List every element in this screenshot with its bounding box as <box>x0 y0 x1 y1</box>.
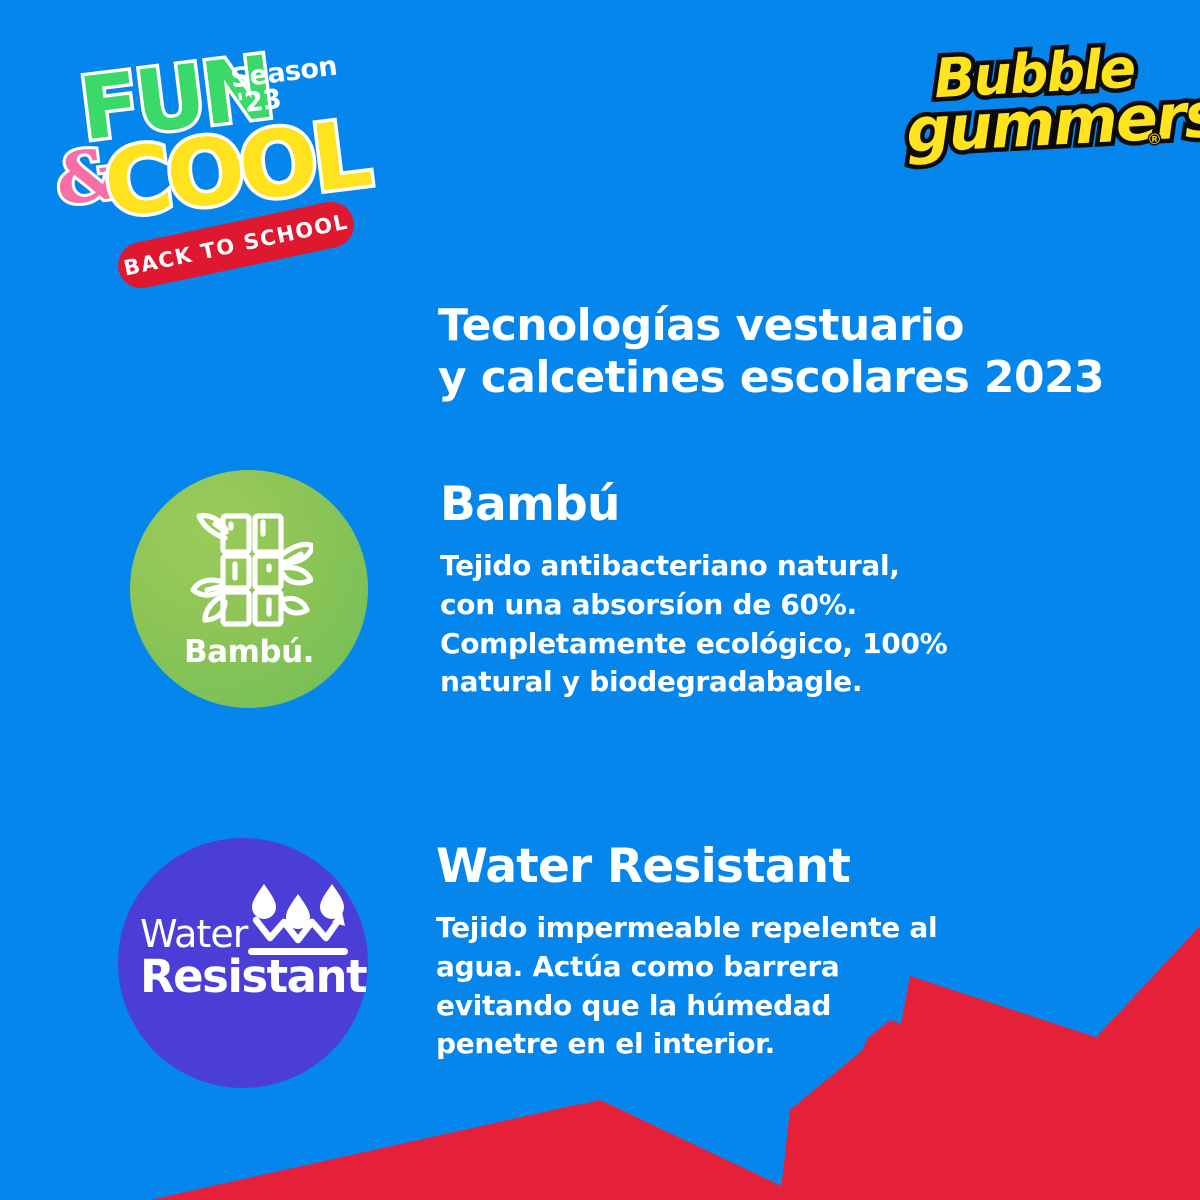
bambu-description-line2: con una absorsíon de 60%. <box>440 586 947 625</box>
water-description-line3: evitando que la húmedad <box>436 987 937 1026</box>
page-title-line1: Tecnologías vestuario <box>438 300 964 351</box>
feature-row-water-resistant: Water Resistant <box>118 838 937 1088</box>
bambu-description: Tejido antibacteriano natural, con una a… <box>440 547 947 702</box>
bambu-badge-caption: Bambú. <box>184 634 314 670</box>
registered-trademark-icon: ® <box>1149 131 1160 148</box>
bambu-description-line4: natural y biodegradabagle. <box>440 663 947 702</box>
water-resistant-title: Water Resistant <box>436 842 937 891</box>
page-title-line2: y calcetines escolares 2023 <box>438 352 1138 404</box>
bambu-description-line3: Completamente ecológico, 100% <box>440 625 947 664</box>
page-title: Tecnologías vestuario y calcetines escol… <box>438 300 1138 404</box>
water-resistant-text-block: Water Resistant Tejido impermeable repel… <box>436 838 937 1064</box>
water-droplets-repel-icon <box>246 880 350 962</box>
water-description-line2: agua. Actúa como barrera <box>436 948 937 987</box>
water-resistant-description: Tejido impermeable repelente al agua. Ac… <box>436 909 937 1064</box>
water-description-line4: penetre en el interior. <box>436 1025 937 1064</box>
bubble-gummers-logo: Bubble gummers ® <box>906 42 1156 162</box>
feature-row-bambu: Bambú. Bambú Tejido antibacteriano natur… <box>130 470 947 708</box>
bambu-description-line1: Tejido antibacteriano natural, <box>440 547 947 586</box>
bambu-title: Bambú <box>440 480 947 529</box>
brand-logo-line2: gummers <box>904 78 1200 167</box>
bambu-text-block: Bambú Tejido antibacteriano natural, con… <box>440 470 947 702</box>
water-description-line1: Tejido impermeable repelente al <box>436 909 937 948</box>
poster-canvas: FUN Season '23 & COOL BACK TO SCHOOL Bub… <box>0 0 1200 1200</box>
bamboo-stalks-icon <box>185 508 313 628</box>
fun-and-cool-logo: FUN Season '23 & COOL BACK TO SCHOOL <box>36 34 366 284</box>
water-resistant-badge: Water Resistant <box>118 838 368 1088</box>
bambu-badge: Bambú. <box>130 470 368 708</box>
